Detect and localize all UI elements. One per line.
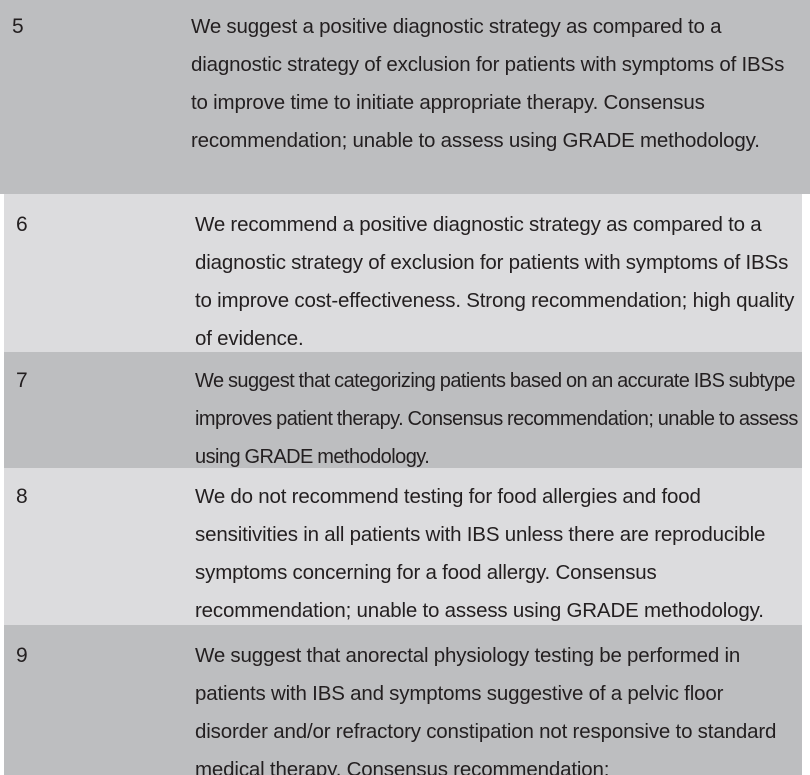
table-row: 7 We suggest that categorizing patients … xyxy=(4,352,802,468)
recommendation-text: We suggest that anorectal physiology tes… xyxy=(195,637,802,775)
recommendation-number: 6 xyxy=(4,206,195,235)
recommendation-number: 7 xyxy=(4,362,195,391)
recommendation-text: We suggest a positive diagnostic strateg… xyxy=(191,8,810,160)
recommendations-table: 5 We suggest a positive diagnostic strat… xyxy=(0,0,810,775)
recommendation-number: 9 xyxy=(4,637,195,666)
recommendation-text: We do not recommend testing for food all… xyxy=(195,478,802,625)
recommendation-text: We recommend a positive diagnostic strat… xyxy=(195,206,802,352)
table-row: 5 We suggest a positive diagnostic strat… xyxy=(0,0,810,194)
table-row: 6 We recommend a positive diagnostic str… xyxy=(4,194,802,352)
recommendation-text: We suggest that categorizing patients ba… xyxy=(195,362,802,468)
recommendation-number: 8 xyxy=(4,478,195,507)
table-row: 9 We suggest that anorectal physiology t… xyxy=(4,625,802,775)
recommendation-number: 5 xyxy=(0,8,191,37)
table-row: 8 We do not recommend testing for food a… xyxy=(4,468,802,625)
